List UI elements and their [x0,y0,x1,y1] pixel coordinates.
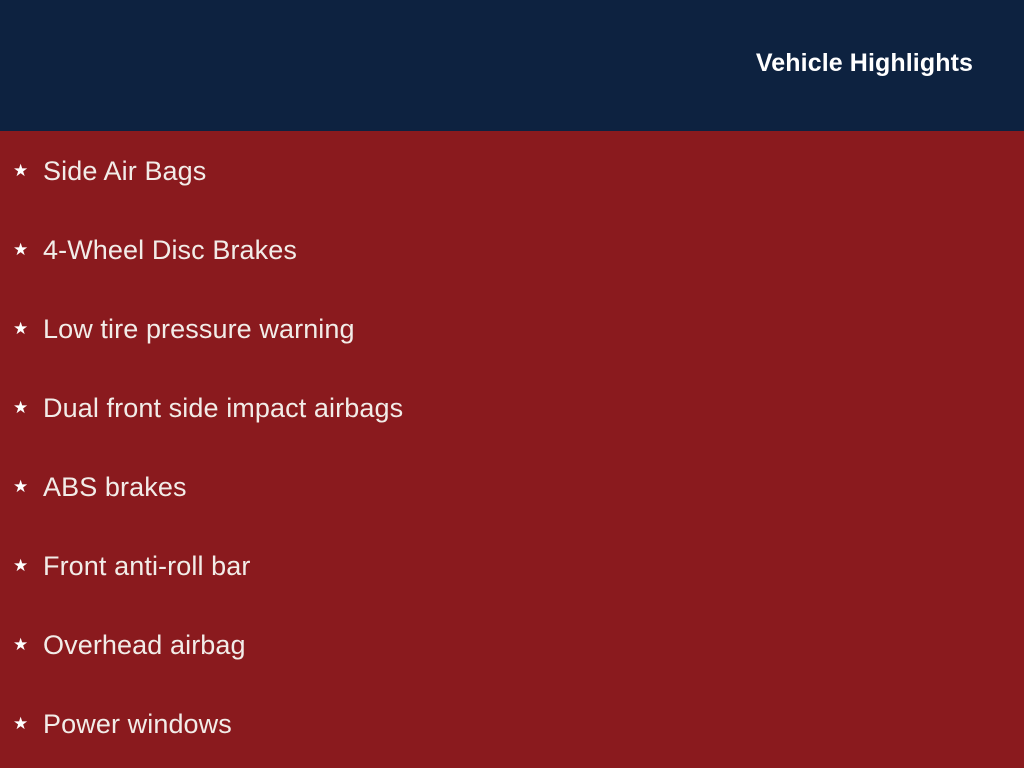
list-item-label: Dual front side impact airbags [43,392,403,424]
list-item: ★ Low tire pressure warning [0,289,1024,368]
list-item-label: Side Air Bags [43,155,206,187]
list-item: ★ Side Air Bags [0,131,1024,210]
list-item-label: Power windows [43,708,232,740]
list-item: ★ Front anti-roll bar [0,526,1024,605]
star-bullet-icon: ★ [13,237,29,263]
highlights-content-area: ★ Side Air Bags ★ 4-Wheel Disc Brakes ★ … [0,131,1024,768]
page-title: Vehicle Highlights [756,47,973,79]
star-bullet-icon: ★ [13,158,29,184]
star-bullet-icon: ★ [13,395,29,421]
list-item: ★ Dual front side impact airbags [0,368,1024,447]
list-item: ★ 4-Wheel Disc Brakes [0,210,1024,289]
list-item-label: 4-Wheel Disc Brakes [43,234,297,266]
list-item-label: Overhead airbag [43,629,246,661]
list-item-label: Front anti-roll bar [43,550,250,582]
star-bullet-icon: ★ [13,474,29,500]
star-bullet-icon: ★ [13,553,29,579]
vehicle-highlights-list: ★ Side Air Bags ★ 4-Wheel Disc Brakes ★ … [0,131,1024,764]
list-item-label: Low tire pressure warning [43,313,355,345]
list-item-label: ABS brakes [43,471,187,503]
star-bullet-icon: ★ [13,632,29,658]
list-item: ★ ABS brakes [0,447,1024,526]
slide-header-band: Vehicle Highlights [0,0,1024,131]
list-item: ★ Power windows [0,685,1024,764]
star-bullet-icon: ★ [13,711,29,737]
vehicle-highlights-slide: Vehicle Highlights ★ Side Air Bags ★ 4-W… [0,0,1024,768]
star-bullet-icon: ★ [13,316,29,342]
list-item: ★ Overhead airbag [0,606,1024,685]
